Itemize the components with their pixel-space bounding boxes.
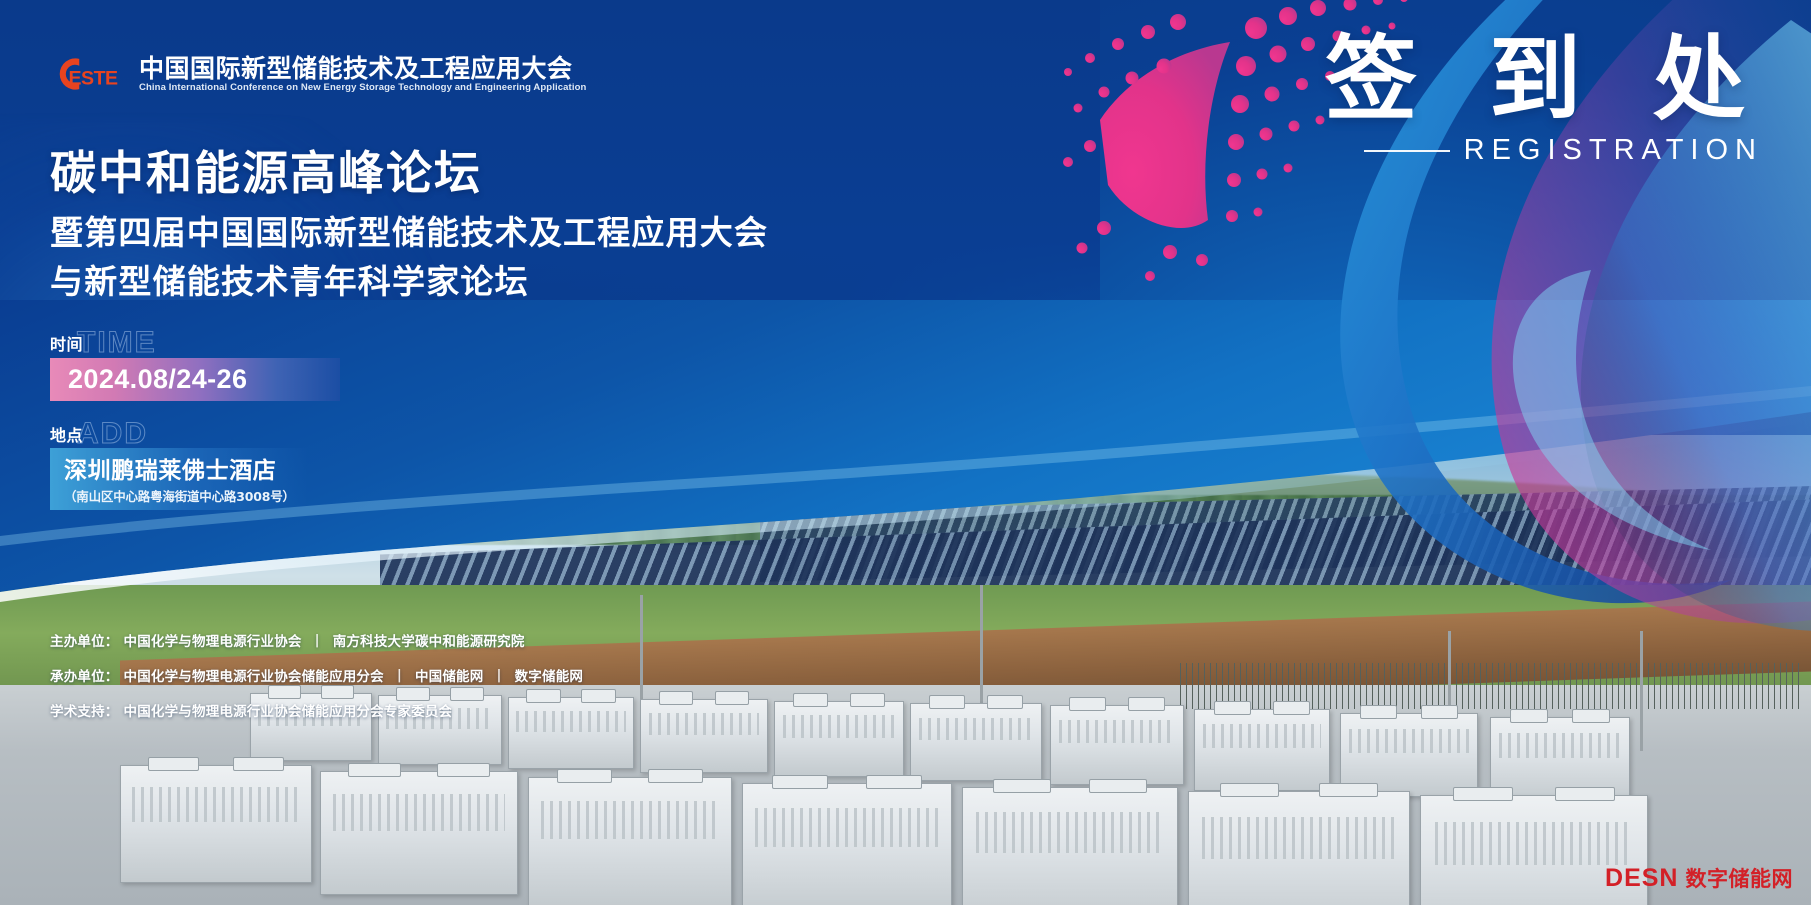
watermark-brand-cn: 数字储能网 (1686, 863, 1794, 893)
organizer-separator: | (384, 667, 415, 683)
event-date-bar: 2024.08/24-26 (50, 358, 340, 401)
logo-english-name: China International Conference on New En… (139, 83, 586, 93)
forum-subtitle-line1: 暨第四届中国国际新型储能技术及工程应用大会 (50, 206, 768, 254)
address-label-cn: 地点 (50, 422, 83, 446)
time-label-en: TIME (77, 328, 157, 358)
conference-logo: ESTE 中国国际新型储能技术及工程应用大会 China Internation… (50, 52, 586, 96)
time-label: 时间 TIME (50, 332, 480, 354)
organizer-item: 中国化学与物理电源行业协会储能应用分会专家委员会 (124, 700, 453, 720)
photo-light-pole (980, 585, 983, 735)
organizer-row-academic-support: 学术支持： 中国化学与物理电源行业协会储能应用分会专家委员会 (50, 700, 583, 720)
organizer-item: 中国化学与物理电源行业协会储能应用分会 (124, 665, 384, 685)
forum-main-title: 碳中和能源高峰论坛 (50, 137, 482, 203)
organizer-item: 数字储能网 (515, 665, 584, 685)
address-block: 地点 ADD 深圳鹏瑞莱佛士酒店 （南山区中心路粤海街道中心路3008号） (50, 423, 480, 510)
venue-name: 深圳鹏瑞莱佛士酒店 (64, 451, 300, 485)
photo-light-pole (1640, 631, 1643, 751)
registration-title-en: REGISTRATION (1464, 136, 1763, 165)
registration-rule (1364, 150, 1450, 152)
svg-text:ESTE: ESTE (68, 67, 118, 89)
photo-fence (1180, 663, 1800, 709)
conference-registration-banner: ESTE 中国国际新型储能技术及工程应用大会 China Internation… (0, 0, 1811, 905)
event-date-value: 2024.08/24-26 (68, 364, 247, 395)
address-label: 地点 ADD (50, 423, 480, 445)
organizer-key: 承办单位： (50, 665, 119, 685)
time-label-cn: 时间 (50, 331, 83, 355)
organizer-item: 南方科技大学碳中和能源研究院 (333, 630, 525, 650)
photo-light-pole (640, 595, 643, 755)
organizer-key: 学术支持： (50, 700, 119, 720)
venue-detail: （南山区中心路粤海街道中心路3008号） (64, 486, 300, 505)
address-label-en: ADD (77, 419, 148, 449)
organizer-row-host: 主办单位： 中国化学与物理电源行业协会 | 南方科技大学碳中和能源研究院 (50, 630, 583, 650)
organizer-list: 主办单位： 中国化学与物理电源行业协会 | 南方科技大学碳中和能源研究院 承办单… (50, 630, 583, 720)
site-watermark: DESN 数字储能网 (1605, 863, 1793, 893)
venue-bar: 深圳鹏瑞莱佛士酒店 （南山区中心路粤海街道中心路3008号） (50, 448, 308, 510)
watermark-brand: DESN (1605, 864, 1678, 893)
event-meta-block: 时间 TIME 2024.08/24-26 地点 ADD 深圳鹏瑞莱佛士酒店 （… (50, 332, 480, 510)
logo-chinese-name: 中国国际新型储能技术及工程应用大会 (139, 56, 586, 82)
organizer-separator: | (483, 667, 514, 683)
organizer-separator: | (302, 632, 333, 648)
registration-english-row: REGISTRATION (1325, 136, 1769, 165)
organizer-row-co-host: 承办单位： 中国化学与物理电源行业协会储能应用分会 | 中国储能网 | 数字储能… (50, 665, 583, 685)
organizer-item: 中国化学与物理电源行业协会 (124, 630, 302, 650)
organizer-key: 主办单位： (50, 630, 119, 650)
organizer-item: 中国储能网 (415, 665, 484, 685)
forum-subtitle-line2: 与新型储能技术青年科学家论坛 (50, 255, 529, 303)
registration-title-cn: 签 到 处 (1325, 34, 1769, 126)
registration-heading: 签 到 处 REGISTRATION (1325, 34, 1769, 165)
ceste-logo-icon: ESTE (50, 52, 130, 96)
photo-light-pole (1448, 631, 1451, 751)
